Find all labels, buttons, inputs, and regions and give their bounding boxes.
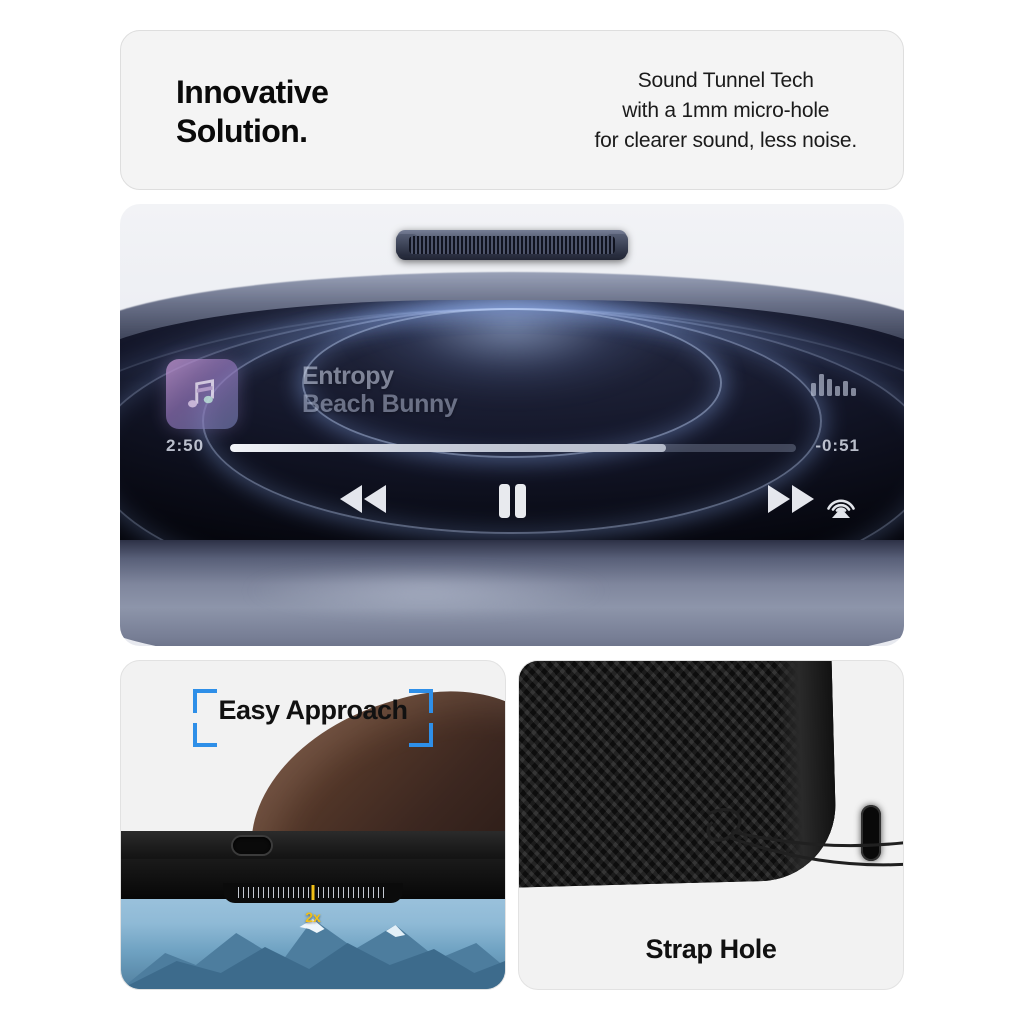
page-title: Innovative Solution. xyxy=(176,73,328,151)
bottom-panel-row: Easy Approach 2x xyxy=(120,660,904,990)
zoom-level-label: 2x xyxy=(305,909,321,925)
focus-bracket-top-right-icon xyxy=(409,689,433,713)
pause-icon xyxy=(494,482,530,520)
focus-bracket-bottom-left-icon xyxy=(193,723,217,747)
track-info: Entropy Beach Bunny xyxy=(302,362,457,418)
equalizer-icon xyxy=(811,372,856,396)
rewind-icon xyxy=(332,482,394,516)
strap-hole-panel: Strap Hole xyxy=(518,660,904,990)
camera-control-button[interactable] xyxy=(233,837,271,854)
product-feature-page: Innovative Solution. Sound Tunnel Tech w… xyxy=(0,0,1024,1024)
focus-bracket-bottom-right-icon xyxy=(409,723,433,747)
track-artist: Beach Bunny xyxy=(302,390,457,418)
fast-forward-button[interactable] xyxy=(760,482,822,516)
progress-bar[interactable] xyxy=(230,444,796,452)
focus-bracket-top-left-icon xyxy=(193,689,217,713)
album-art xyxy=(166,359,238,429)
progress-fill xyxy=(230,444,666,452)
music-player-overlay: Entropy Beach Bunny 2:50 -0:51 xyxy=(120,204,904,646)
remaining-time: -0:51 xyxy=(815,436,860,456)
lanyard-cord xyxy=(688,792,904,912)
easy-approach-label: Easy Approach xyxy=(218,695,407,726)
elapsed-time: 2:50 xyxy=(166,436,204,456)
airplay-button[interactable] xyxy=(822,484,860,522)
header-subtitle: Sound Tunnel Tech with a 1mm micro-hole … xyxy=(595,66,857,155)
header-card: Innovative Solution. Sound Tunnel Tech w… xyxy=(120,30,904,190)
fast-forward-icon xyxy=(760,482,822,516)
track-title: Entropy xyxy=(302,362,457,390)
zoom-needle xyxy=(312,885,315,900)
hero-speaker-panel: Entropy Beach Bunny 2:50 -0:51 xyxy=(120,204,904,646)
easy-approach-panel: Easy Approach 2x xyxy=(120,660,506,990)
rewind-button[interactable] xyxy=(332,482,394,516)
playback-controls xyxy=(120,482,904,528)
camera-preview-photo xyxy=(121,889,505,989)
pause-button[interactable] xyxy=(494,482,530,520)
music-note-icon xyxy=(181,373,223,415)
airplay-icon xyxy=(822,484,860,522)
strap-hole-label: Strap Hole xyxy=(519,934,903,965)
